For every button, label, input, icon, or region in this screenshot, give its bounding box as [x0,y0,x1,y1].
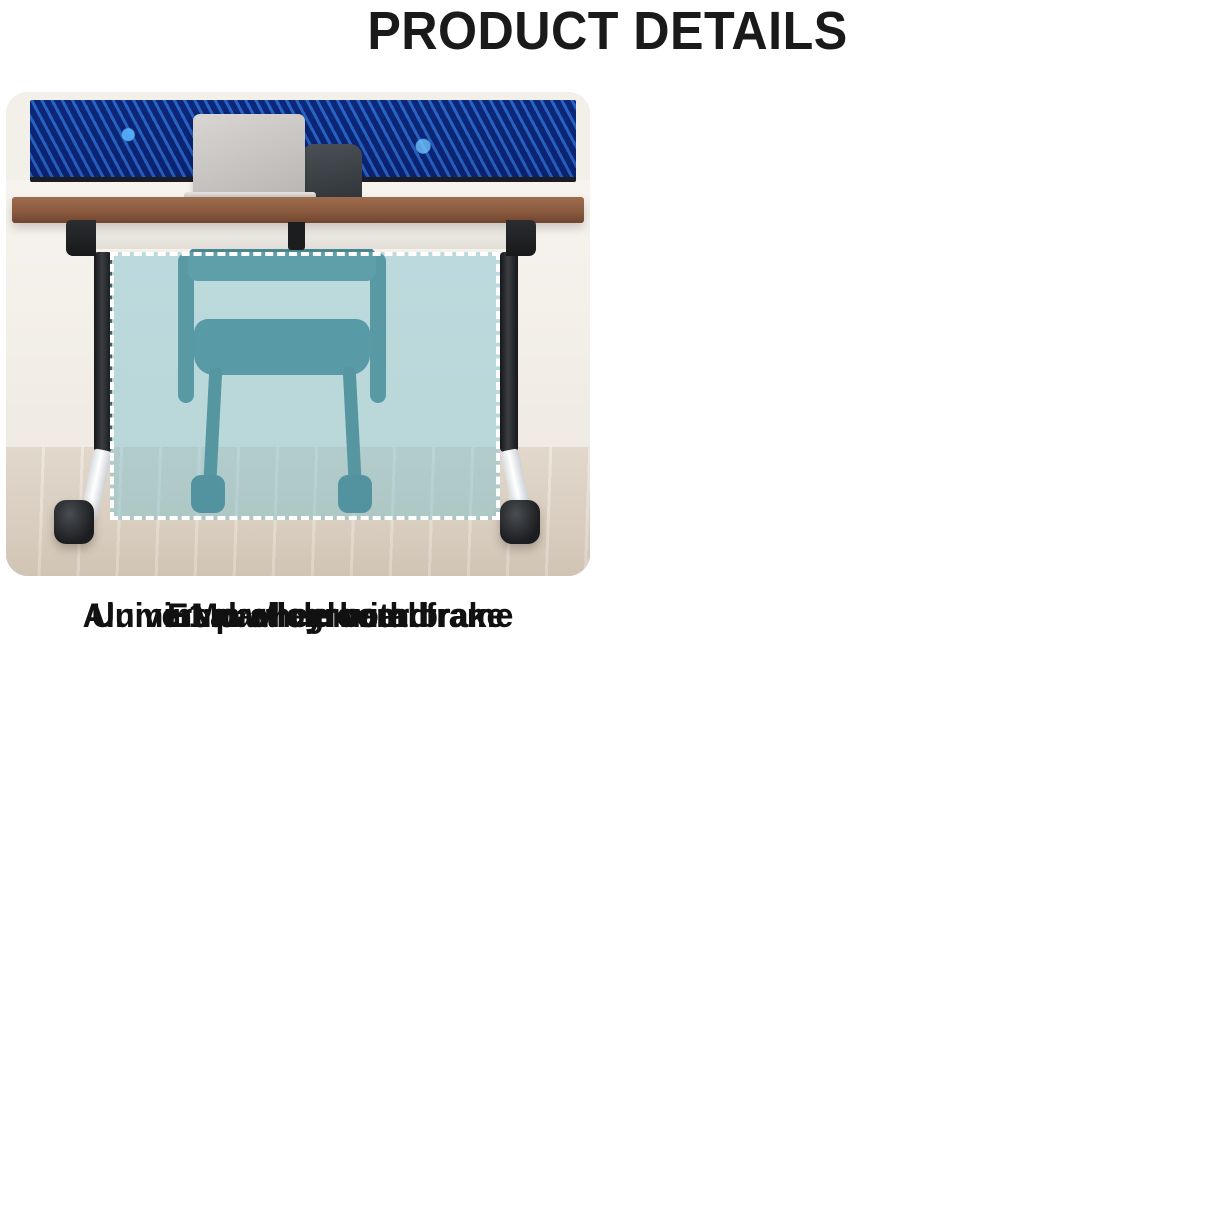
more-legroom-image [6,92,590,576]
product-details-infographic: PRODUCT DETAILS E1 particle board [0,0,1215,1205]
table-caster-right [500,500,540,544]
panel-more-legroom[interactable]: More legroom [6,92,590,638]
table-leg-right [500,252,518,452]
laptop [193,114,305,196]
table-caster-left [54,500,94,544]
caption-more-legroom: More legroom [21,594,576,638]
fold-bracket-right [506,220,536,256]
panel-grid: E1 particle board [6,92,1209,1202]
table-top [12,197,584,223]
page-title: PRODUCT DETAILS [43,0,1173,62]
fold-bracket-left [66,220,96,256]
chair-back-top [302,144,362,198]
legroom-highlight [110,252,500,520]
fold-bracket-center [288,222,305,250]
